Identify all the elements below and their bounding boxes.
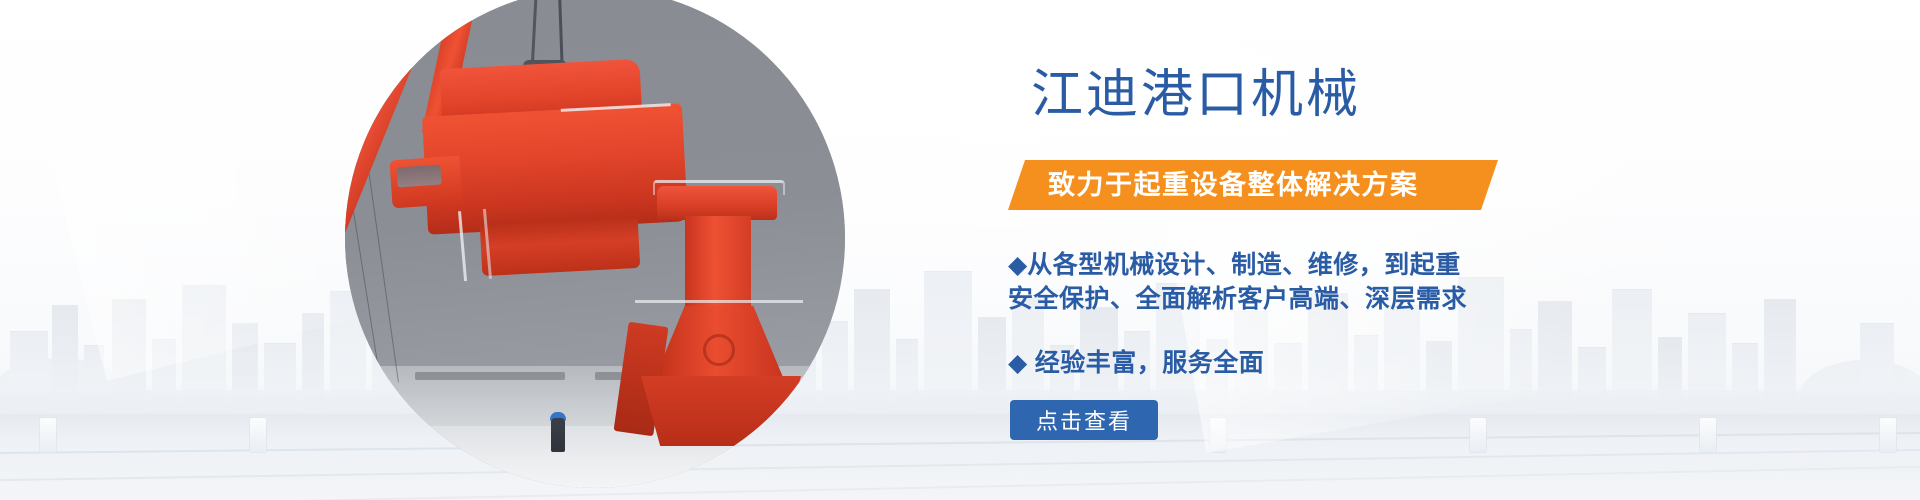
- banner-content: 江迪港口机械 致力于起重设备整体解决方案 ◆从各型机械设计、制造、维修，到起重 …: [1008, 0, 1628, 500]
- background-skyline: [0, 240, 1920, 410]
- list-item: ◆从各型机械设计、制造、维修，到起重 安全保护、全面解析客户高端、深层需求: [1008, 248, 1608, 316]
- list-item-line-2: 安全保护、全面解析客户高端、深层需求: [1008, 282, 1608, 316]
- tagline-ribbon: 致力于起重设备整体解决方案: [1008, 160, 1498, 210]
- list-item: ◆ 经验丰富，服务全面: [1008, 346, 1608, 380]
- diamond-bullet-icon: ◆: [1008, 251, 1027, 279]
- list-item-line-1: 从各型机械设计、制造、维修，到起重: [1027, 251, 1461, 279]
- cta-button[interactable]: 点击查看: [1010, 400, 1158, 440]
- hero-banner: 江迪港口机械 致力于起重设备整体解决方案 ◆从各型机械设计、制造、维修，到起重 …: [0, 0, 1920, 500]
- list-item-line-1: 经验丰富，服务全面: [1035, 349, 1265, 377]
- background-road: [0, 414, 1920, 500]
- feature-list: ◆从各型机械设计、制造、维修，到起重 安全保护、全面解析客户高端、深层需求 ◆ …: [1008, 248, 1608, 380]
- tagline-text: 致力于起重设备整体解决方案: [1048, 160, 1419, 210]
- port-crane-photo: [345, 0, 845, 488]
- page-title: 江迪港口机械: [1031, 62, 1361, 128]
- diamond-bullet-icon: ◆: [1008, 349, 1027, 377]
